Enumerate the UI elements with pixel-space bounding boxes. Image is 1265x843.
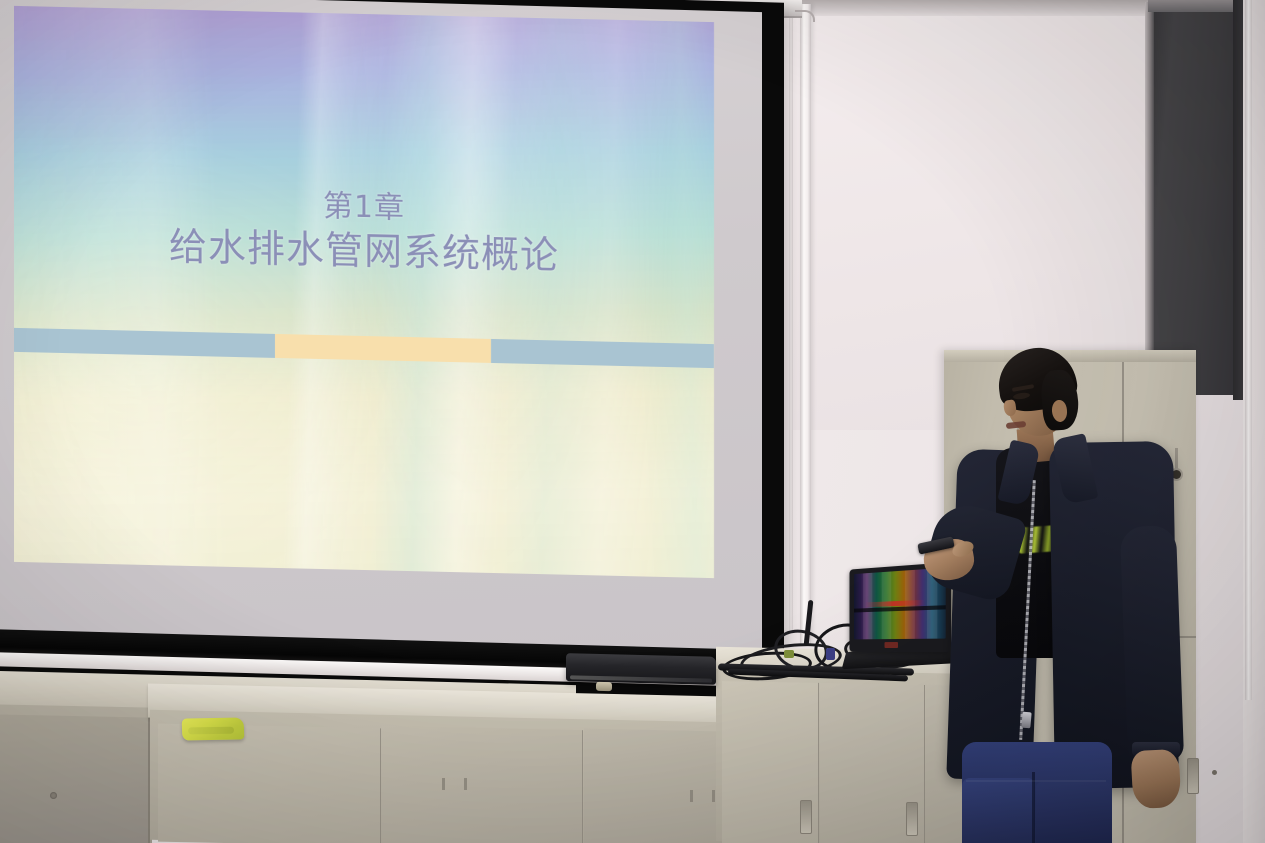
cabinet-handle-pair[interactable] (442, 778, 472, 790)
wall-right-pipe (1245, 0, 1252, 700)
green-connector (784, 650, 794, 658)
slide-bar-right-segment (491, 339, 714, 368)
slide-bar-center-segment (275, 334, 491, 363)
wall-conduit-pipe (800, 4, 811, 644)
cabinet-middle-door-3[interactable] (584, 729, 724, 843)
slide-arc-highlight (322, 6, 630, 578)
slide-title-block: 第1章 给水排水管网系统概论 (14, 182, 714, 282)
lecture-room-scene: 第1章 给水排水管网系统概论 (0, 0, 1265, 843)
right-arm (1120, 525, 1184, 763)
cabinet-handle-slot[interactable] (800, 800, 812, 834)
yellow-cloth (182, 717, 245, 740)
zipper-pull (1021, 712, 1031, 729)
closed-laptop[interactable] (566, 653, 716, 685)
jeans-left-leg (962, 778, 1034, 843)
presenter (900, 330, 1200, 843)
jeans-right-leg (1036, 782, 1112, 843)
padlock[interactable] (596, 682, 612, 691)
cabinet-left-door[interactable] (0, 714, 150, 843)
jeans-crease (966, 780, 1106, 782)
right-hand (1131, 749, 1182, 809)
cabinet-middle-door-2[interactable] (382, 726, 583, 843)
blue-connector (826, 648, 835, 660)
column-top-face (1148, 0, 1238, 12)
cabinet-keyhole[interactable] (50, 792, 57, 799)
projected-slide: 第1章 给水排水管网系统概论 (14, 6, 714, 578)
cabinet-middle-door-1[interactable] (158, 724, 381, 843)
laptop-logo (885, 642, 898, 648)
jeans-seam (1032, 772, 1035, 843)
wall-conduit-thin (789, 10, 793, 630)
cabinet-screw-dot (1212, 770, 1217, 775)
